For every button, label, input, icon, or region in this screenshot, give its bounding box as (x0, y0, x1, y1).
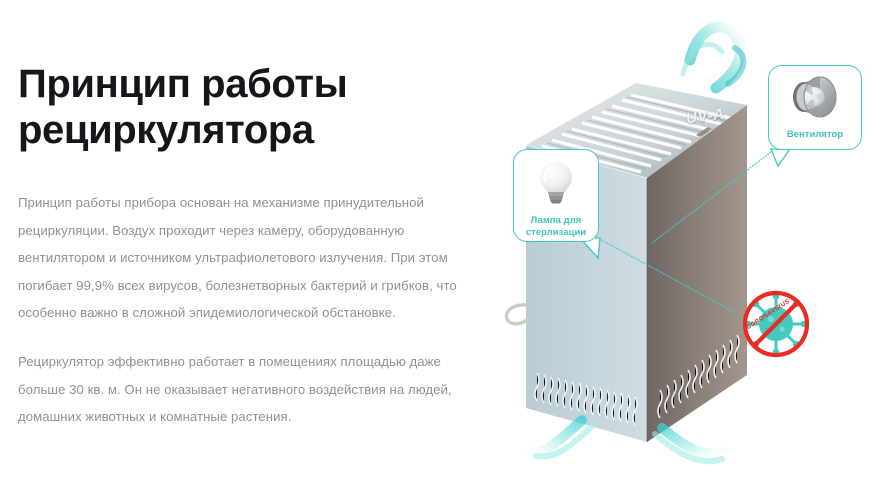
page-title: Принцип работы рециркулятора (18, 62, 480, 153)
airflow-bottom-right-icon (655, 428, 725, 461)
callout-card-fan[interactable]: Вентилятор (768, 65, 862, 150)
power-cable (506, 305, 529, 324)
callout-card-lamp[interactable]: Лампа для стерлизации (513, 149, 599, 242)
body-paragraph-1: Принцип работы прибора основан на механи… (18, 189, 480, 326)
recirculator-illustration: UV-A CORONAVIRUS (490, 0, 880, 500)
callout-tail-fan (771, 149, 790, 166)
callout-label-lamp: Лампа для стерлизации (526, 214, 586, 238)
body-paragraph-2: Рециркулятор эффективно работает в помещ… (18, 348, 480, 430)
duct-fan-icon (789, 74, 841, 125)
no-coronavirus-badge (745, 293, 808, 356)
airflow-top-icon (683, 27, 743, 88)
text-column: Принцип работы рециркулятора Принцип раб… (18, 62, 480, 431)
light-bulb-icon (536, 158, 576, 211)
airflow-bottom-left-icon (530, 420, 594, 457)
callout-label-fan: Вентилятор (787, 128, 843, 140)
page-root: Принцип работы рециркулятора Принцип раб… (0, 0, 880, 500)
